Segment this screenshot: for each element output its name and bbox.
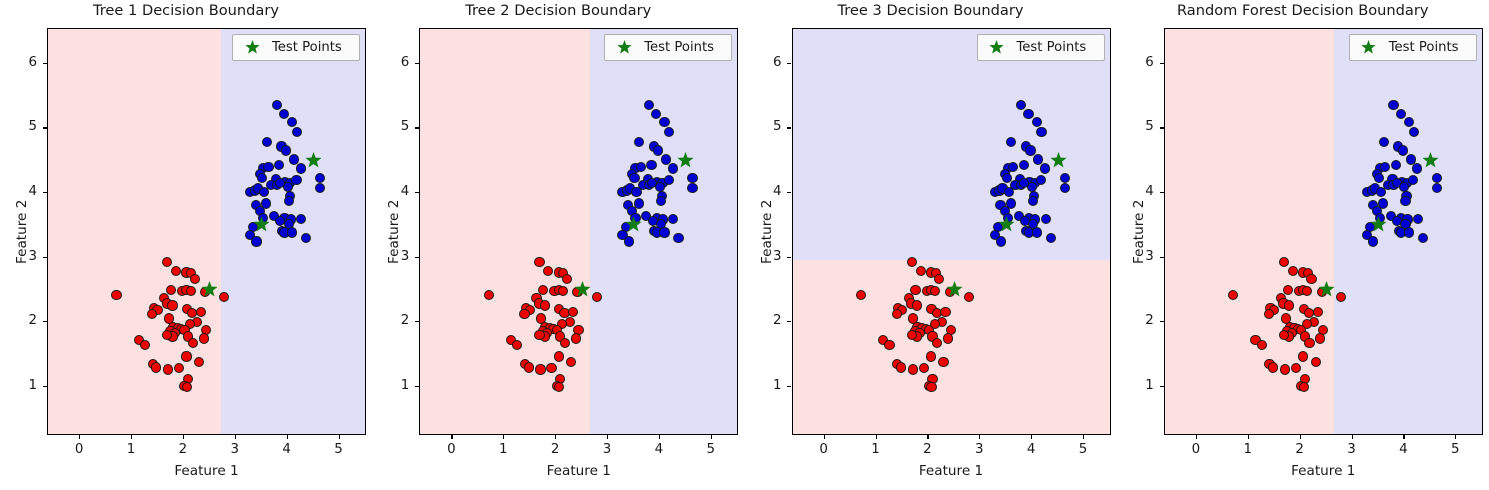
data-point-class-a — [943, 333, 953, 343]
data-point-class-a — [1299, 382, 1309, 392]
y-tick-label: 6 — [11, 55, 37, 70]
data-point-class-a — [186, 286, 196, 296]
decision-region-class-a — [48, 29, 221, 435]
y-tick-label: 5 — [383, 119, 409, 134]
data-point-class-a — [930, 286, 940, 296]
y-tick-mark — [415, 63, 419, 64]
x-tick-label: 2 — [1287, 442, 1313, 457]
data-point-class-b — [1379, 137, 1389, 147]
data-point-class-b — [996, 236, 1006, 246]
data-point-class-a — [912, 300, 922, 310]
y-tick-label: 4 — [756, 184, 782, 199]
data-point-class-b — [1004, 187, 1014, 197]
x-tick-label: 1 — [863, 442, 889, 457]
data-point-class-b — [262, 137, 272, 147]
data-point-class-b — [1368, 236, 1378, 246]
data-point-class-a — [896, 362, 906, 372]
data-point-class-b — [646, 160, 656, 170]
y-tick-mark — [415, 127, 419, 128]
data-point-class-a — [163, 364, 173, 374]
data-point-class-a — [484, 290, 494, 300]
panel-1: Tree 1 Decision BoundaryTest Points12345… — [0, 0, 372, 490]
test-point-star-icon — [253, 216, 270, 233]
decision-region-class-a — [1165, 29, 1335, 435]
x-tick-label: 3 — [966, 442, 992, 457]
data-point-class-a — [926, 382, 936, 392]
y-tick-label: 5 — [1128, 119, 1154, 134]
legend-star-icon — [1355, 40, 1383, 55]
y-tick-mark — [1160, 257, 1164, 258]
x-tick-mark — [659, 435, 660, 439]
y-tick-mark — [43, 386, 47, 387]
y-tick-label: 4 — [383, 184, 409, 199]
data-point-class-a — [938, 357, 948, 367]
x-tick-mark — [824, 435, 825, 439]
y-tick-mark — [787, 63, 791, 64]
x-tick-mark — [1352, 435, 1353, 439]
data-point-class-b — [284, 196, 294, 206]
test-point-star-icon — [574, 281, 591, 298]
x-tick-mark — [979, 435, 980, 439]
y-tick-label: 1 — [756, 378, 782, 393]
x-tick-mark — [1300, 435, 1301, 439]
legend[interactable]: Test Points — [604, 34, 732, 61]
plot-area — [419, 28, 738, 435]
x-tick-mark — [555, 435, 556, 439]
data-point-class-b — [1380, 162, 1390, 172]
data-point-class-a — [940, 307, 950, 317]
y-tick-mark — [1160, 63, 1164, 64]
plot-area — [1164, 28, 1483, 435]
data-point-class-b — [1398, 145, 1408, 155]
y-tick-label: 2 — [1128, 313, 1154, 328]
panel-4: Random Forest Decision BoundaryTest Poin… — [1117, 0, 1489, 490]
x-tick-mark — [711, 435, 712, 439]
data-point-class-b — [291, 175, 301, 185]
y-tick-mark — [1160, 386, 1164, 387]
x-tick-mark — [1083, 435, 1084, 439]
y-tick-mark — [43, 63, 47, 64]
data-point-class-a — [1306, 274, 1316, 284]
data-point-class-a — [964, 292, 974, 302]
data-point-class-a — [140, 340, 150, 350]
x-tick-label: 4 — [1390, 442, 1416, 457]
x-tick-mark — [1031, 435, 1032, 439]
test-point-star-icon — [1422, 152, 1439, 169]
x-tick-label: 3 — [594, 442, 620, 457]
data-point-class-b — [263, 162, 273, 172]
data-point-class-b — [1409, 127, 1419, 137]
x-tick-mark — [503, 435, 504, 439]
y-axis-label: Feature 2 — [1131, 199, 1147, 263]
y-tick-mark — [787, 192, 791, 193]
test-point-star-icon — [305, 152, 322, 169]
data-point-class-b — [1060, 183, 1070, 193]
data-point-class-b — [631, 187, 641, 197]
x-tick-label: 2 — [914, 442, 940, 457]
data-point-class-b — [687, 183, 697, 193]
test-point-star-icon — [677, 152, 694, 169]
data-point-class-b — [292, 127, 302, 137]
panel-2: Tree 2 Decision BoundaryTest Points12345… — [372, 0, 744, 490]
y-tick-label: 4 — [1128, 184, 1154, 199]
test-point-star-icon — [1318, 281, 1335, 298]
legend-star-icon — [238, 40, 266, 55]
x-axis-label: Feature 1 — [792, 463, 1111, 479]
x-tick-label: 5 — [698, 442, 724, 457]
x-tick-label: 3 — [1339, 442, 1365, 457]
data-point-class-a — [1284, 300, 1294, 310]
x-tick-mark — [235, 435, 236, 439]
data-point-class-b — [1376, 187, 1386, 197]
data-point-class-a — [111, 290, 121, 300]
data-point-class-b — [281, 145, 291, 155]
legend[interactable]: Test Points — [232, 34, 360, 61]
y-axis-label: Feature 2 — [14, 199, 30, 263]
x-axis-label: Feature 1 — [1164, 463, 1483, 479]
data-point-class-a — [534, 330, 544, 340]
y-tick-mark — [787, 127, 791, 128]
data-point-class-a — [540, 300, 550, 310]
test-point-star-icon — [201, 281, 218, 298]
test-point-star-icon — [625, 216, 642, 233]
data-point-class-b — [1008, 162, 1018, 172]
data-point-class-a — [908, 364, 918, 374]
data-point-class-a — [534, 257, 544, 267]
plot-area — [792, 28, 1111, 435]
test-point-star-icon — [1050, 152, 1067, 169]
x-tick-label: 0 — [811, 442, 837, 457]
x-tick-mark — [1403, 435, 1404, 439]
data-point-class-a — [181, 351, 191, 361]
y-tick-mark — [787, 321, 791, 322]
x-tick-label: 3 — [222, 442, 248, 457]
data-point-class-b — [251, 236, 261, 246]
y-tick-label: 5 — [756, 119, 782, 134]
data-point-class-a — [554, 351, 564, 361]
data-point-class-b — [687, 173, 697, 183]
data-point-class-a — [167, 300, 177, 310]
data-point-class-b — [664, 175, 674, 185]
y-tick-label: 5 — [11, 119, 37, 134]
data-point-class-b — [656, 196, 666, 206]
data-point-class-b — [1036, 127, 1046, 137]
x-tick-label: 0 — [66, 442, 92, 457]
x-tick-label: 1 — [1235, 442, 1261, 457]
x-tick-mark — [1196, 435, 1197, 439]
data-point-class-b — [636, 162, 646, 172]
data-point-class-b — [1404, 227, 1414, 237]
data-point-class-a — [592, 292, 602, 302]
x-tick-mark — [131, 435, 132, 439]
x-tick-label: 0 — [1183, 442, 1209, 457]
data-point-class-a — [535, 364, 545, 374]
y-tick-mark — [415, 386, 419, 387]
x-tick-mark — [607, 435, 608, 439]
x-tick-label: 5 — [1442, 442, 1468, 457]
y-tick-label: 2 — [383, 313, 409, 328]
x-tick-label: 5 — [1070, 442, 1096, 457]
x-tick-label: 5 — [326, 442, 352, 457]
data-point-class-b — [664, 127, 674, 137]
data-point-class-b — [1032, 117, 1042, 127]
data-point-class-a — [558, 286, 568, 296]
data-point-class-a — [182, 382, 192, 392]
x-tick-mark — [339, 435, 340, 439]
x-tick-mark — [183, 435, 184, 439]
data-point-class-b — [624, 236, 634, 246]
panel-title: Tree 2 Decision Boundary — [372, 2, 744, 19]
y-tick-label: 2 — [11, 313, 37, 328]
y-tick-mark — [43, 257, 47, 258]
data-point-class-a — [1268, 362, 1278, 372]
data-point-class-b — [659, 117, 669, 127]
data-point-class-a — [199, 333, 209, 343]
y-tick-mark — [43, 321, 47, 322]
data-point-class-b — [1388, 100, 1398, 110]
panel-title: Random Forest Decision Boundary — [1117, 2, 1489, 19]
y-tick-label: 6 — [383, 55, 409, 70]
data-point-class-b — [1413, 214, 1423, 224]
x-tick-label: 0 — [438, 442, 464, 457]
y-tick-label: 1 — [383, 378, 409, 393]
x-tick-mark — [79, 435, 80, 439]
data-point-class-a — [926, 351, 936, 361]
y-tick-label: 6 — [756, 55, 782, 70]
y-axis-label: Feature 2 — [386, 199, 402, 263]
legend-label: Test Points — [1389, 40, 1459, 55]
data-point-class-b — [1418, 233, 1428, 243]
data-point-class-a — [188, 338, 198, 348]
y-tick-mark — [1160, 192, 1164, 193]
y-tick-mark — [415, 192, 419, 193]
data-point-class-b — [1046, 233, 1056, 243]
legend-label: Test Points — [644, 40, 714, 55]
y-tick-mark — [415, 257, 419, 258]
y-tick-mark — [787, 257, 791, 258]
legend-star-icon — [610, 40, 638, 55]
x-tick-label: 1 — [118, 442, 144, 457]
data-point-class-a — [916, 266, 926, 276]
legend-star-icon — [983, 40, 1011, 55]
y-tick-label: 6 — [1128, 55, 1154, 70]
legend[interactable]: Test Points — [977, 34, 1105, 61]
data-point-class-a — [1264, 309, 1274, 319]
data-point-class-b — [1023, 109, 1033, 119]
x-tick-label: 2 — [542, 442, 568, 457]
y-tick-mark — [1160, 321, 1164, 322]
y-tick-mark — [415, 321, 419, 322]
x-axis-label: Feature 1 — [47, 463, 366, 479]
data-point-class-a — [524, 362, 534, 372]
y-tick-mark — [43, 192, 47, 193]
test-point-star-icon — [946, 281, 963, 298]
decision-region-class-b — [793, 29, 1111, 260]
legend-label: Test Points — [1017, 40, 1087, 55]
test-point-star-icon — [998, 216, 1015, 233]
data-point-class-a — [919, 363, 929, 373]
data-point-class-a — [519, 309, 529, 319]
plot-area — [47, 28, 366, 435]
x-tick-label: 4 — [1018, 442, 1044, 457]
data-point-class-a — [1298, 351, 1308, 361]
data-point-class-a — [546, 363, 556, 373]
x-tick-label: 2 — [170, 442, 196, 457]
test-point-star-icon — [1370, 216, 1387, 233]
data-point-class-b — [287, 227, 297, 237]
data-point-class-a — [190, 274, 200, 284]
x-tick-mark — [287, 435, 288, 439]
panel-title: Tree 3 Decision Boundary — [745, 2, 1117, 19]
legend[interactable]: Test Points — [1349, 34, 1477, 61]
x-tick-mark — [1455, 435, 1456, 439]
data-point-class-a — [571, 333, 581, 343]
x-tick-mark — [927, 435, 928, 439]
x-axis-label: Feature 1 — [419, 463, 738, 479]
data-point-class-a — [1280, 364, 1290, 374]
data-point-class-b — [673, 233, 683, 243]
y-tick-mark — [43, 127, 47, 128]
data-point-class-b — [653, 145, 663, 155]
panel-3: Tree 3 Decision BoundaryTest Points12345… — [745, 0, 1117, 490]
data-point-class-b — [1032, 227, 1042, 237]
data-point-class-b — [1041, 214, 1051, 224]
data-point-class-b — [659, 227, 669, 237]
legend-label: Test Points — [272, 40, 342, 55]
y-axis-label: Feature 2 — [759, 199, 775, 263]
panel-title: Tree 1 Decision Boundary — [0, 2, 372, 19]
y-tick-label: 2 — [756, 313, 782, 328]
data-point-class-a — [1257, 340, 1267, 350]
y-tick-mark — [787, 386, 791, 387]
y-tick-label: 1 — [11, 378, 37, 393]
x-tick-mark — [1248, 435, 1249, 439]
data-point-class-a — [884, 340, 894, 350]
data-point-class-a — [892, 309, 902, 319]
x-tick-label: 4 — [646, 442, 672, 457]
data-point-class-a — [1315, 333, 1325, 343]
data-point-class-a — [560, 338, 570, 348]
y-tick-label: 1 — [1128, 378, 1154, 393]
y-tick-mark — [1160, 127, 1164, 128]
data-point-class-b — [1400, 196, 1410, 206]
x-tick-mark — [451, 435, 452, 439]
x-tick-mark — [876, 435, 877, 439]
x-tick-label: 4 — [274, 442, 300, 457]
figure-canvas: Tree 1 Decision BoundaryTest Points12345… — [0, 0, 1489, 490]
data-point-class-a — [1313, 307, 1323, 317]
x-tick-label: 1 — [490, 442, 516, 457]
data-point-class-a — [1304, 338, 1314, 348]
decision-region-class-a — [420, 29, 590, 435]
y-tick-label: 4 — [11, 184, 37, 199]
